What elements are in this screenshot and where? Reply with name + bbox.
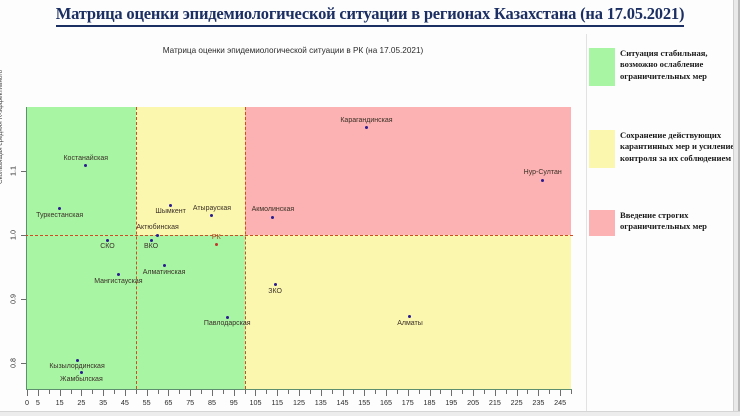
x-tick [430, 390, 431, 396]
data-point-label: Павлодарская [204, 320, 251, 327]
data-point-label: Алматы [397, 320, 423, 327]
x-tick [49, 390, 50, 394]
x-tick [234, 390, 235, 396]
x-tick-label: 125 [293, 398, 305, 407]
zone-band-green [27, 107, 136, 389]
x-tick-label: 55 [143, 398, 151, 407]
threshold-line-incidence-100 [245, 107, 246, 389]
x-tick [245, 390, 246, 394]
data-point-label: ВКО [144, 243, 158, 250]
x-tick [60, 390, 61, 396]
slide-bottom-decoration [0, 411, 740, 416]
y-tick-label: 0.8 [9, 355, 18, 371]
y-tick-label: 0.9 [9, 291, 18, 307]
x-tick [353, 390, 354, 394]
x-tick [397, 390, 398, 394]
zone-band-pink [245, 107, 571, 235]
legend-item-pink: Введение строгих ограничительных мер [589, 210, 738, 236]
y-axis-line [26, 107, 27, 389]
x-tick [277, 390, 278, 396]
x-tick [451, 390, 452, 396]
x-tick [375, 390, 376, 394]
x-tick [440, 390, 441, 394]
y-tick-label: 1.1 [9, 163, 18, 179]
x-tick-label: 105 [249, 398, 261, 407]
x-tick-label: 245 [554, 398, 566, 407]
x-tick [538, 390, 539, 396]
zone-band-yellow_upper [136, 107, 245, 235]
data-point-label: Нур-Султан [524, 169, 562, 176]
y-tick [21, 171, 26, 172]
x-tick [560, 390, 561, 396]
x-tick-label: 205 [467, 398, 479, 407]
x-tick-label: 25 [77, 398, 85, 407]
x-tick [147, 390, 148, 396]
data-point[interactable] [150, 239, 153, 242]
x-tick [114, 390, 115, 394]
x-tick [136, 390, 137, 394]
slide-root: Матрица оценки эпидемиологической ситуац… [0, 0, 740, 416]
x-tick [321, 390, 322, 396]
x-tick [71, 390, 72, 394]
data-point-label: Карагандинская [340, 117, 392, 124]
x-tick [168, 390, 169, 396]
x-tick [506, 390, 507, 394]
data-point[interactable] [106, 239, 109, 242]
x-tick [419, 390, 420, 394]
data-point-label: РК [212, 234, 221, 241]
x-tick [125, 390, 126, 396]
threshold-line-incidence-50 [136, 107, 137, 389]
legend-swatch-yellow [589, 130, 615, 168]
y-tick [21, 363, 26, 364]
x-tick [212, 390, 213, 396]
x-tick [462, 390, 463, 394]
x-tick [81, 390, 82, 396]
x-tick [364, 390, 365, 396]
y-tick-label: 1.0 [9, 227, 18, 243]
x-tick [343, 390, 344, 396]
legend-item-green: Ситуация стабильная, возможно ослабление… [589, 48, 738, 86]
y-tick [21, 235, 26, 236]
x-tick-label: 235 [532, 398, 544, 407]
x-tick [158, 390, 159, 394]
data-point-label: Атырауская [193, 205, 231, 212]
x-tick [549, 390, 550, 394]
x-tick [408, 390, 409, 396]
x-tick-label: 115 [272, 398, 283, 407]
legend-label-green: Ситуация стабильная, возможно ослабление… [620, 48, 738, 82]
data-point[interactable] [274, 283, 277, 286]
data-point-label: ЗКО [268, 288, 282, 295]
data-point-label: Шымкент [155, 208, 185, 215]
data-point-label: Мангистауская [94, 278, 142, 285]
data-point[interactable] [76, 359, 79, 362]
data-point[interactable] [169, 204, 172, 207]
x-tick [386, 390, 387, 396]
x-tick [223, 390, 224, 394]
x-tick-label: 225 [511, 398, 523, 407]
x-tick-label: 35 [99, 398, 107, 407]
x-tick [255, 390, 256, 396]
data-point-label: Кызылординская [49, 363, 104, 370]
zone-band-green_low [136, 235, 245, 389]
x-tick [517, 390, 518, 396]
legend-label-yellow: Сохранение действующих карантинных мер и… [620, 130, 738, 164]
x-tick-label: 0 [25, 398, 29, 407]
x-tick [103, 390, 104, 396]
x-tick [179, 390, 180, 394]
data-point[interactable] [226, 316, 229, 319]
y-axis-title: Скользящая средняя R-эффективного [0, 70, 4, 184]
x-tick-label: 215 [489, 398, 501, 407]
data-point[interactable] [541, 179, 544, 182]
plot-area: 0515253545556575859510511512513514515516… [27, 107, 571, 389]
x-tick-label: 45 [121, 398, 129, 407]
x-tick-label: 185 [424, 398, 436, 407]
x-tick-label: 165 [380, 398, 392, 407]
threshold-line-r1 [25, 235, 573, 236]
legend-label-pink: Введение строгих ограничительных мер [620, 210, 738, 233]
y-tick [21, 299, 26, 300]
x-tick [201, 390, 202, 394]
x-tick-label: 75 [186, 398, 194, 407]
legend-swatch-green [589, 48, 615, 86]
chart-title: Матрица оценки эпидемиологической ситуац… [0, 46, 586, 55]
data-point[interactable] [365, 126, 368, 129]
x-tick [484, 390, 485, 394]
data-point-label: Костанайская [63, 155, 108, 162]
x-tick [27, 390, 28, 396]
x-tick [571, 390, 572, 394]
x-tick [527, 390, 528, 394]
x-tick-label: 65 [164, 398, 172, 407]
x-tick-label: 145 [337, 398, 349, 407]
x-tick [92, 390, 93, 394]
legend-swatch-pink [589, 210, 615, 236]
slide-title: Матрица оценки эпидемиологической ситуац… [0, 4, 740, 27]
x-tick [266, 390, 267, 394]
x-tick [473, 390, 474, 396]
data-point-label: Жамбылская [60, 376, 103, 383]
data-point-label: Акмолинская [252, 206, 295, 213]
zone-band-yellow_lower [245, 235, 571, 389]
x-tick-label: 155 [358, 398, 370, 407]
x-tick [190, 390, 191, 396]
legend-panel: Ситуация стабильная, возможно ослабление… [589, 34, 740, 416]
x-tick [495, 390, 496, 396]
chart-panel: Матрица оценки эпидемиологической ситуац… [0, 34, 587, 416]
data-point-label: СКО [100, 243, 115, 250]
x-tick-label: 175 [402, 398, 414, 407]
data-point-label: Алматинская [143, 269, 186, 276]
data-point-label: Туркестанская [36, 212, 83, 219]
slide-title-text: Матрица оценки эпидемиологической ситуац… [56, 4, 685, 27]
x-tick-label: 195 [445, 398, 457, 407]
legend-item-yellow: Сохранение действующих карантинных мер и… [589, 130, 738, 168]
x-tick [288, 390, 289, 394]
x-tick [332, 390, 333, 394]
data-point-label: Актюбинская [136, 224, 178, 231]
x-tick-label: 95 [230, 398, 238, 407]
x-tick [38, 390, 39, 396]
x-tick-label: 5 [36, 398, 40, 407]
x-tick [299, 390, 300, 396]
x-tick-label: 85 [208, 398, 216, 407]
x-tick-label: 15 [56, 398, 64, 407]
data-point[interactable] [156, 234, 159, 237]
x-tick-label: 135 [315, 398, 327, 407]
x-tick [310, 390, 311, 394]
